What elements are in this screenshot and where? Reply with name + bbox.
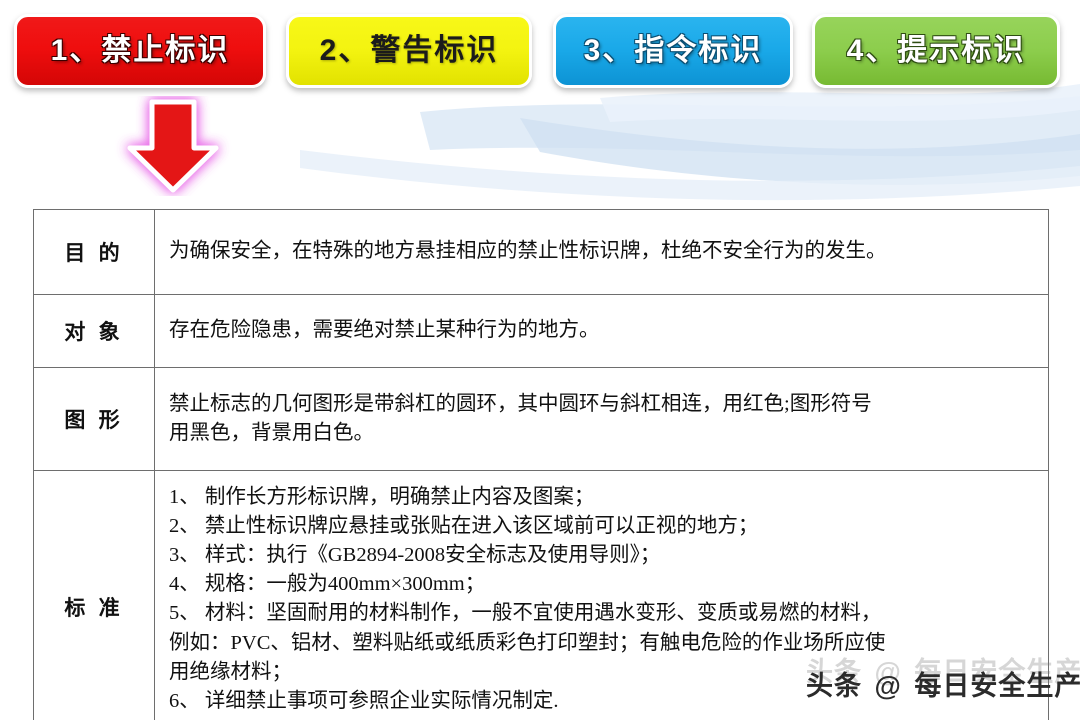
category-tab-bar: 1、禁止标识 2、警告标识 3、指令标识 4、提示标识 (0, 14, 1080, 96)
watermark: 头条 @ 每日安全生产 (806, 664, 1080, 703)
active-tab-pointer (108, 96, 238, 196)
table-row: 目 的 为确保安全，在特殊的地方悬挂相应的禁止性标识牌，杜绝不安全行为的发生。 (34, 210, 1049, 295)
tab-notice-label: 4、提示标识 (847, 36, 1026, 66)
standard-line-3: 3、 样式：执行《GB2894-2008安全标志及使用导则》； (169, 541, 1040, 570)
tab-warning[interactable]: 2、警告标识 (286, 14, 532, 88)
row-content-line: 存在危险隐患，需要绝对禁止某种行为的地方。 (169, 316, 1040, 345)
standard-line-4: 4、 规格：一般为400mm×300mm； (169, 570, 1040, 599)
table-row: 对 象 存在危险隐患，需要绝对禁止某种行为的地方。 (34, 295, 1049, 368)
watermark-platform: 头条 (806, 671, 862, 701)
specification-table: 目 的 为确保安全，在特殊的地方悬挂相应的禁止性标识牌，杜绝不安全行为的发生。 … (33, 209, 1049, 720)
standard-line-1: 1、 制作长方形标识牌，明确禁止内容及图案； (169, 483, 1040, 512)
row-label-target: 对 象 (34, 295, 155, 368)
standard-line-5: 5、 材料：坚固耐用的材料制作，一般不宜使用遇水变形、变质或易燃的材料， (169, 599, 1040, 628)
tab-mandatory[interactable]: 3、指令标识 (553, 14, 793, 88)
specification-table-container: 目 的 为确保安全，在特殊的地方悬挂相应的禁止性标识牌，杜绝不安全行为的发生。 … (33, 209, 1049, 720)
standard-line-2: 2、 禁止性标识牌应悬挂或张贴在进入该区域前可以正视的地方； (169, 512, 1040, 541)
tab-prohibition-label: 1、禁止标识 (51, 36, 230, 66)
tab-notice[interactable]: 4、提示标识 (812, 14, 1060, 88)
arrow-down-icon (108, 96, 238, 196)
tab-prohibition[interactable]: 1、禁止标识 (14, 14, 266, 88)
tab-warning-label: 2、警告标识 (320, 36, 499, 66)
row-content-graphic: 禁止标志的几何图形是带斜杠的圆环，其中圆环与斜杠相连，用红色;图形符号 用黑色，… (155, 368, 1049, 471)
table-row: 图 形 禁止标志的几何图形是带斜杠的圆环，其中圆环与斜杠相连，用红色;图形符号 … (34, 368, 1049, 471)
row-label-purpose: 目 的 (34, 210, 155, 295)
row-content-target: 存在危险隐患，需要绝对禁止某种行为的地方。 (155, 295, 1049, 368)
row-content-purpose: 为确保安全，在特殊的地方悬挂相应的禁止性标识牌，杜绝不安全行为的发生。 (155, 210, 1049, 295)
row-label-standard: 标 准 (34, 471, 155, 720)
watermark-account: 每日安全生产 (914, 671, 1080, 701)
slide-page: 1、禁止标识 2、警告标识 3、指令标识 4、提示标识 (0, 0, 1080, 720)
row-label-graphic: 图 形 (34, 368, 155, 471)
watermark-at-symbol: @ (875, 671, 902, 701)
row-content-line: 禁止标志的几何图形是带斜杠的圆环，其中圆环与斜杠相连，用红色;图形符号 (169, 390, 1040, 419)
row-content-line: 用黑色，背景用白色。 (169, 419, 1040, 448)
row-content-line: 为确保安全，在特殊的地方悬挂相应的禁止性标识牌，杜绝不安全行为的发生。 (169, 237, 1040, 266)
tab-mandatory-label: 3、指令标识 (584, 36, 763, 66)
